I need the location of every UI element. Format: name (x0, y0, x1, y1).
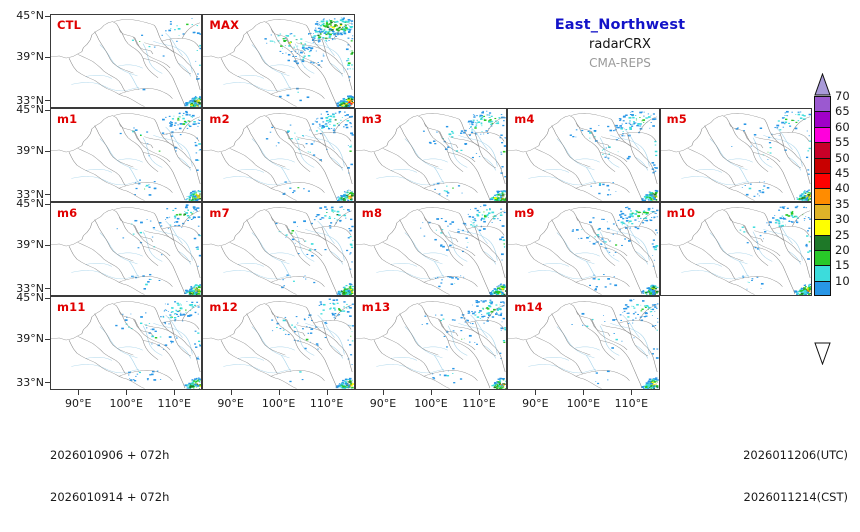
radar-echo-layer (572, 299, 659, 389)
river-layer (528, 127, 649, 185)
x-axis-tick (279, 390, 280, 395)
y-axis-tick (45, 245, 50, 246)
y-axis-tick (45, 194, 50, 195)
colorbar-under-arrow-icon (814, 342, 831, 365)
map-panel-m2[interactable]: m2 (202, 108, 354, 202)
province-border-layer (203, 19, 352, 106)
radar-echo-layer (266, 111, 354, 201)
colorbar-tick-label: 70 (835, 91, 850, 102)
y-axis-tick (45, 298, 50, 299)
y-axis-tick-label: 39°N (2, 333, 44, 344)
x-axis-tick-label: 90°E (512, 398, 558, 409)
x-axis-tick (479, 390, 480, 395)
y-axis-tick-label: 39°N (2, 145, 44, 156)
panel-label-m5: m5 (667, 112, 687, 126)
map-panel-m13[interactable]: m13 (355, 296, 507, 390)
panel-label-max: MAX (209, 18, 239, 32)
y-axis-tick (45, 151, 50, 152)
map-panel-m14[interactable]: m14 (507, 296, 659, 390)
x-axis-tick-label: 110°E (304, 398, 350, 409)
colorbar-tick-label: 45 (835, 168, 850, 179)
colorbar-over-arrow-icon (814, 73, 831, 96)
map-panel-m1[interactable]: m1 (50, 108, 202, 202)
colorbar-cell (814, 173, 831, 188)
radar-echo-layer (117, 204, 202, 295)
river-layer (71, 127, 192, 185)
colorbar-tick-label: 50 (835, 153, 850, 164)
y-axis-tick-label: 45°N (2, 10, 44, 21)
footer-valid-cst: 2026011214(CST) (743, 490, 848, 504)
colorbar-cell (814, 96, 831, 111)
x-axis-tick (583, 390, 584, 395)
province-border-layer (661, 207, 810, 294)
x-axis-tick (327, 390, 328, 395)
panel-label-m11: m11 (57, 300, 86, 314)
panel-label-m10: m10 (667, 206, 696, 220)
panel-label-m7: m7 (209, 206, 229, 220)
province-border-layer (356, 301, 505, 388)
colorbar-tick-label: 20 (835, 245, 850, 256)
province-border-layer (203, 113, 352, 200)
river-layer (528, 315, 649, 373)
map-panel-ctl[interactable]: CTL (50, 14, 202, 108)
colorbar-tick-label: 30 (835, 214, 850, 225)
river-layer (71, 221, 192, 279)
colorbar-tick-label: 60 (835, 122, 850, 133)
figure-source-label: CMA-REPS (470, 54, 770, 73)
figure-title: East_Northwest (470, 16, 770, 35)
x-axis-tick-label: 90°E (55, 398, 101, 409)
colorbar-cell (814, 204, 831, 219)
footer-init-line2: 2026010914 + 072h (50, 490, 169, 504)
panel-label-m4: m4 (514, 112, 534, 126)
colorbar-tick-label: 25 (835, 230, 850, 241)
y-axis-tick (45, 288, 50, 289)
colorbar-cell (814, 158, 831, 173)
province-border-layer (661, 113, 810, 200)
river-layer (224, 127, 345, 185)
x-axis-tick-label: 90°E (208, 398, 254, 409)
colorbar-cell (814, 219, 831, 234)
map-panel-m8[interactable]: m8 (355, 202, 507, 296)
x-axis-tick-label: 100°E (256, 398, 302, 409)
province-border-layer (51, 19, 200, 106)
x-axis-tick-label: 110°E (151, 398, 197, 409)
colorbar-tick-label: 35 (835, 199, 850, 210)
panel-label-ctl: CTL (57, 18, 81, 32)
colorbar-cell (814, 188, 831, 203)
footer-init-times: 2026010906 + 072h 2026010914 + 072h (50, 420, 169, 532)
colorbar-tick-label: 40 (835, 183, 850, 194)
y-axis-tick-label: 33°N (2, 377, 44, 388)
colorbar-tick-label: 10 (835, 276, 850, 287)
map-panel-m6[interactable]: m6 (50, 202, 202, 296)
y-axis-tick-label: 45°N (2, 198, 44, 209)
colorbar-cell (814, 250, 831, 265)
y-axis-tick (45, 339, 50, 340)
river-layer (681, 221, 802, 279)
river-layer (376, 315, 497, 373)
province-border-layer (203, 301, 352, 388)
panel-label-m13: m13 (362, 300, 391, 314)
x-axis-tick-label: 100°E (408, 398, 454, 409)
river-layer (376, 127, 497, 185)
panel-label-m8: m8 (362, 206, 382, 220)
footer-valid-times: 2026011206(UTC) 2026011214(CST) (743, 420, 848, 532)
x-axis-tick-label: 100°E (560, 398, 606, 409)
colorbar-cells (814, 96, 831, 296)
map-panel-m11[interactable]: m11 (50, 296, 202, 390)
map-panel-max[interactable]: MAX (202, 14, 354, 108)
y-axis-tick (45, 110, 50, 111)
river-layer (681, 127, 802, 185)
radar-echo-layer (421, 300, 506, 389)
x-axis-tick (535, 390, 536, 395)
title-block: East_Northwest radarCRX CMA-REPS (470, 16, 770, 73)
colorbar-cell (814, 235, 831, 250)
x-axis-tick (174, 390, 175, 395)
radar-echo-layer (423, 111, 506, 201)
river-layer (71, 33, 192, 91)
colorbar-cell (814, 265, 831, 280)
province-border-layer (356, 207, 505, 294)
y-axis-tick (45, 57, 50, 58)
map-panel-m3[interactable]: m3 (355, 108, 507, 202)
y-axis-tick (45, 382, 50, 383)
colorbar: 70656055504540353025201510 (808, 72, 860, 360)
x-axis-tick (383, 390, 384, 395)
x-axis-tick (78, 390, 79, 395)
y-axis-tick-label: 45°N (2, 104, 44, 115)
map-panel-m12[interactable]: m12 (202, 296, 354, 390)
footer-init-line1: 2026010906 + 072h (50, 448, 169, 462)
colorbar-cell (814, 142, 831, 157)
province-border-layer (51, 113, 200, 200)
radar-echo-layer (739, 206, 811, 295)
radar-echo-layer (120, 111, 202, 201)
map-panel-m4[interactable]: m4 (507, 108, 659, 202)
panel-label-m6: m6 (57, 206, 77, 220)
map-panel-m10[interactable]: m10 (660, 202, 812, 296)
y-axis-tick-label: 45°N (2, 292, 44, 303)
panel-label-m1: m1 (57, 112, 77, 126)
figure-canvas: East_Northwest radarCRX CMA-REPS CTLMAXm… (0, 0, 860, 456)
map-panel-m9[interactable]: m9 (507, 202, 659, 296)
colorbar-tick-label: 55 (835, 137, 850, 148)
y-axis-tick (45, 204, 50, 205)
river-layer (528, 221, 649, 279)
x-axis-tick (126, 390, 127, 395)
footer-valid-utc: 2026011206(UTC) (743, 448, 848, 462)
x-axis-tick-label: 110°E (456, 398, 502, 409)
x-axis-tick-label: 90°E (360, 398, 406, 409)
figure-subtitle: radarCRX (470, 35, 770, 54)
panel-label-m14: m14 (514, 300, 543, 314)
x-axis-tick (631, 390, 632, 395)
radar-echo-layer (420, 204, 506, 295)
province-border-layer (508, 113, 657, 200)
province-border-layer (51, 207, 200, 294)
y-axis-tick (45, 100, 50, 101)
y-axis-tick-label: 39°N (2, 51, 44, 62)
province-border-layer (356, 113, 505, 200)
x-axis-tick-label: 100°E (103, 398, 149, 409)
colorbar-cell (814, 111, 831, 126)
map-panel-m7[interactable]: m7 (202, 202, 354, 296)
panel-label-m12: m12 (209, 300, 238, 314)
map-panel-m5[interactable]: m5 (660, 108, 812, 202)
colorbar-tick-label: 65 (835, 106, 850, 117)
radar-echo-layer (572, 207, 659, 295)
radar-echo-layer (272, 299, 354, 389)
y-axis-tick-label: 39°N (2, 239, 44, 250)
colorbar-cell (814, 127, 831, 142)
x-axis-tick (431, 390, 432, 395)
province-border-layer (203, 207, 352, 294)
x-axis-tick-label: 110°E (608, 398, 654, 409)
panel-label-m9: m9 (514, 206, 534, 220)
colorbar-tick-label: 15 (835, 260, 850, 271)
y-axis-tick (45, 16, 50, 17)
radar-echo-layer (276, 206, 354, 295)
panel-label-m2: m2 (209, 112, 229, 126)
colorbar-cell (814, 281, 831, 296)
river-layer (71, 315, 192, 373)
panel-label-m3: m3 (362, 112, 382, 126)
x-axis-tick (231, 390, 232, 395)
